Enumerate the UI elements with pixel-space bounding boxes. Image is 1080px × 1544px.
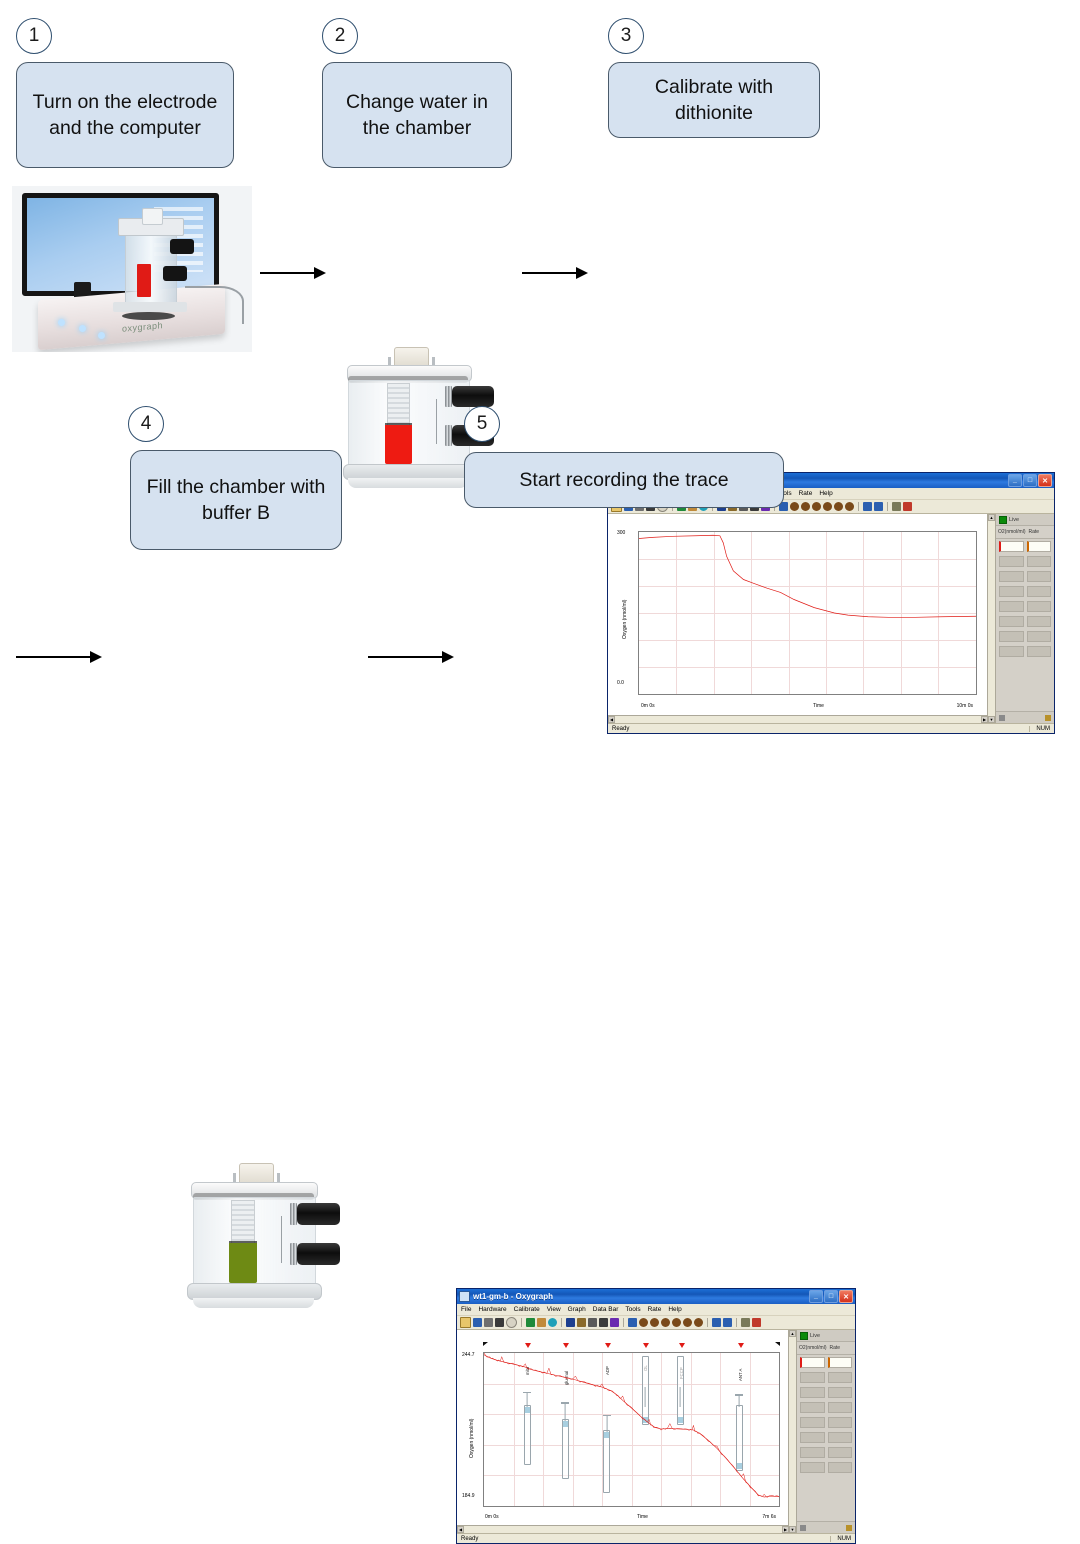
toolbar-separator-3 <box>623 1318 624 1327</box>
scroll-left-button[interactable]: ◀ <box>608 716 615 723</box>
chamber-red-liquid <box>137 264 151 297</box>
data-bar-columns: O2(nmol/ml) Rate <box>797 1342 855 1355</box>
live-indicator-icon <box>999 516 1007 524</box>
chamber-port-knob-upper <box>170 239 194 254</box>
data-bar-row[interactable] <box>797 1460 855 1475</box>
minimize-button[interactable]: _ <box>809 1290 823 1303</box>
o2-cell[interactable] <box>999 556 1024 567</box>
toolbar-separator-4 <box>707 1318 708 1327</box>
clock-icon[interactable] <box>506 1317 517 1328</box>
column-o2: O2(nmol/ml) <box>998 529 1026 535</box>
window-2-plot-area[interactable]: 244.7 184.9 Oxygen (nmol/ml) <box>457 1330 796 1533</box>
o2-cell[interactable] <box>999 631 1024 642</box>
step-4-number: 4 <box>128 406 164 442</box>
zoom-x-icon[interactable] <box>672 1318 681 1327</box>
chamber-liquid-green <box>229 1243 257 1283</box>
step-3-caption: Calibrate with dithionite <box>608 62 820 138</box>
pen-icon[interactable] <box>599 1318 608 1327</box>
menu-item-file[interactable]: File <box>461 1306 471 1313</box>
menu-item-help[interactable]: Help <box>668 1306 681 1313</box>
menu-item-help[interactable]: Help <box>819 490 832 497</box>
zoom-fit-icon[interactable] <box>661 1318 670 1327</box>
rate-cell[interactable] <box>828 1447 853 1458</box>
oxygraph-window-1[interactable]: Untitled - Oxygraph _ □ ✕ File Hardware … <box>607 472 1055 734</box>
rate-cell[interactable] <box>1027 601 1052 612</box>
info-icon[interactable] <box>752 1318 761 1327</box>
window-2-body: 244.7 184.9 Oxygen (nmol/ml) <box>457 1330 855 1533</box>
electrode-cable <box>185 286 245 325</box>
port-ring-lower <box>290 1243 297 1265</box>
window-1-controls[interactable]: _ □ ✕ <box>1008 474 1052 487</box>
chamber-port-knob-lower <box>297 1243 339 1265</box>
chamber-liquid-red <box>385 425 412 464</box>
x-tick-end: 7m 6s <box>762 1514 776 1520</box>
o2-cell[interactable] <box>800 1417 825 1428</box>
rate-cell[interactable] <box>1027 616 1052 627</box>
arrow-head <box>442 651 454 663</box>
menu-item-view[interactable]: View <box>547 1306 561 1313</box>
data-bar-header: Live <box>797 1330 855 1342</box>
data-bar-row[interactable] <box>996 629 1054 644</box>
settings-icon[interactable] <box>800 1525 806 1531</box>
o2-cell[interactable] <box>999 601 1024 612</box>
arrow-shaft <box>260 272 314 274</box>
live-indicator-icon <box>800 1332 808 1340</box>
chamber-plug <box>142 208 163 225</box>
chamber-base-plate-lower <box>348 478 468 488</box>
lock-icon[interactable] <box>1045 715 1051 721</box>
data-bar-row[interactable] <box>996 584 1054 599</box>
port-ring-upper <box>445 386 452 407</box>
menu-item-rate[interactable]: Rate <box>648 1306 662 1313</box>
rate-cell[interactable] <box>1027 556 1052 567</box>
app-icon <box>459 1291 470 1302</box>
save-icon[interactable] <box>473 1318 482 1327</box>
help-arrow-icon[interactable] <box>892 502 901 511</box>
column-o2: O2(nmol/ml) <box>799 1345 827 1351</box>
arrow-shaft <box>368 656 442 658</box>
step-1-photo-oxygraph-unit: oxygraph <box>12 186 252 352</box>
o2-cell[interactable] <box>800 1462 825 1473</box>
pointer-icon[interactable] <box>577 1318 586 1327</box>
marker-adp <box>605 1343 611 1348</box>
rate-cell[interactable] <box>828 1432 853 1443</box>
rate-value-cell[interactable] <box>828 1357 853 1368</box>
window-1-oxygen-trace <box>639 532 976 694</box>
x-axis-label: Time <box>813 703 824 709</box>
data-bar-row[interactable] <box>996 599 1054 614</box>
zoom-reset-icon[interactable] <box>694 1318 703 1327</box>
open-icon[interactable] <box>460 1317 471 1328</box>
data-bar-row-active[interactable] <box>996 539 1054 554</box>
droplet-icon[interactable] <box>537 1318 546 1327</box>
window-2-toolbar[interactable] <box>457 1316 855 1330</box>
o2-cell[interactable] <box>999 646 1024 657</box>
chamber-port-knob-lower <box>163 266 187 281</box>
chart-icon[interactable] <box>610 1318 619 1327</box>
step-2-caption: Change water in the chamber <box>322 62 512 168</box>
data-bar-header-label: Live <box>810 1333 820 1339</box>
y-tick-min: 0.0 <box>617 680 624 686</box>
arrow-shaft <box>522 272 576 274</box>
rate-cell[interactable] <box>828 1372 853 1383</box>
step-1-caption: Turn on the electrode and the computer <box>16 62 234 168</box>
y-axis-label: Oxygen (nmol/ml) <box>469 1419 475 1458</box>
print-icon[interactable] <box>484 1318 493 1327</box>
rate-cell[interactable] <box>828 1402 853 1413</box>
o2-cell[interactable] <box>999 586 1024 597</box>
o2-cell[interactable] <box>800 1372 825 1383</box>
scroll-right-button[interactable]: ▶ <box>782 1526 789 1533</box>
align-icon[interactable] <box>588 1318 597 1327</box>
menu-item-graph[interactable]: Graph <box>568 1306 586 1313</box>
data-bar-row[interactable] <box>996 644 1054 659</box>
plot-vertical-scrollbar[interactable]: ▲ ▼ <box>788 1330 796 1533</box>
toolbar-separator-4 <box>858 502 859 511</box>
thermometer-icon[interactable] <box>526 1318 535 1327</box>
window-2-oxygen-trace <box>484 1353 779 1506</box>
marker-ol <box>643 1343 649 1348</box>
minimize-button[interactable]: _ <box>1008 474 1022 487</box>
led-indicator-1 <box>58 319 65 326</box>
globe-icon[interactable] <box>548 1318 557 1327</box>
port-ring-lower <box>445 425 452 446</box>
o2-value-cell[interactable] <box>800 1357 825 1368</box>
step-3-number: 3 <box>608 18 644 54</box>
close-button[interactable]: ✕ <box>839 1290 853 1303</box>
y-axis-label: Oxygen (nmol/ml) <box>622 600 628 639</box>
arrow-to-step4 <box>16 652 102 662</box>
status-text: Ready <box>612 726 629 732</box>
step-5-caption: Start recording the trace <box>464 452 784 508</box>
info-icon[interactable] <box>903 502 912 511</box>
status-num-indicator: NUM <box>830 1536 851 1542</box>
maximize-button[interactable]: □ <box>1023 474 1037 487</box>
o2-cell[interactable] <box>999 616 1024 627</box>
grid-icon[interactable] <box>628 1318 637 1327</box>
scroll-down-button[interactable]: ▼ <box>789 1526 796 1533</box>
arrow-head <box>576 267 588 279</box>
toolbar-separator-5 <box>736 1318 737 1327</box>
zoom-x-icon[interactable] <box>823 502 832 511</box>
plot-vertical-scrollbar[interactable]: ▲ ▼ <box>987 514 995 723</box>
window-1-statusbar: Ready NUM <box>608 723 1054 734</box>
status-text: Ready <box>461 1536 478 1542</box>
data-bar-row[interactable] <box>797 1370 855 1385</box>
marker-glu-mal <box>563 1343 569 1348</box>
toolbar-separator-2 <box>561 1318 562 1327</box>
menu-item-tools[interactable]: Tools <box>625 1306 640 1313</box>
step-3-group: 3 <box>608 18 644 54</box>
toolbar-separator-1 <box>521 1318 522 1327</box>
step-5-group: 5 <box>464 406 500 442</box>
rate-value-cell[interactable] <box>1027 541 1052 552</box>
data-bar-row[interactable] <box>797 1385 855 1400</box>
status-num-indicator: NUM <box>1029 726 1050 732</box>
zoom-reset-icon[interactable] <box>845 502 854 511</box>
rate-cell[interactable] <box>828 1417 853 1428</box>
x-axis-label: Time <box>637 1514 648 1520</box>
x-tick-end: 10m 0s <box>957 703 973 709</box>
arrow-shaft <box>16 656 90 658</box>
scroll-up-button[interactable]: ▲ <box>789 1330 796 1337</box>
zoom-in-icon[interactable] <box>639 1318 648 1327</box>
menu-item-rate[interactable]: Rate <box>799 490 813 497</box>
port-ring-upper <box>290 1203 297 1225</box>
plot-horizontal-scrollbar[interactable]: ◀ ▶ <box>608 715 988 723</box>
window-2-title: wt1-gm-b - Oxygraph <box>473 1292 809 1301</box>
window-2-statusbar: Ready NUM <box>457 1533 855 1544</box>
table-icon[interactable] <box>723 1318 732 1327</box>
window-1-plot-area[interactable]: 300 0.0 Oxygen (nmol/ml) <box>608 514 995 723</box>
step-1-number: 1 <box>16 18 52 54</box>
chamber-port-knob-upper <box>297 1203 339 1225</box>
rate-cell[interactable] <box>1027 586 1052 597</box>
window-2-titlebar[interactable]: wt1-gm-b - Oxygraph _ □ ✕ <box>457 1289 855 1304</box>
y-tick-max: 300 <box>617 530 625 536</box>
menu-item-hardware[interactable]: Hardware <box>478 1306 506 1313</box>
y-tick-max: 244.7 <box>462 1352 475 1358</box>
window-1-data-bar[interactable]: Live O2(nmol/ml) Rate <box>995 514 1054 723</box>
maximize-button[interactable]: □ <box>824 1290 838 1303</box>
scroll-down-button[interactable]: ▼ <box>988 716 995 723</box>
o2-cell[interactable] <box>800 1402 825 1413</box>
step-4-photo-chamber-buffer <box>176 1160 360 1326</box>
window-icon[interactable] <box>712 1318 721 1327</box>
step-2-group: 2 <box>322 18 358 54</box>
window-2-data-bar[interactable]: Live O2(nmol/ml) Rate <box>796 1330 855 1533</box>
data-bar-header: Live <box>996 514 1054 526</box>
rate-cell[interactable] <box>1027 646 1052 657</box>
window-1-plot-frame <box>638 531 977 695</box>
step-1-group: 1 <box>16 18 52 54</box>
chamber-base-plate-lower <box>193 1298 314 1308</box>
link-icon[interactable] <box>495 1318 504 1327</box>
step-2-number: 2 <box>322 18 358 54</box>
chamber-base <box>113 302 187 312</box>
x-tick-start: 0m 0s <box>641 703 655 709</box>
rate-cell[interactable] <box>1027 571 1052 582</box>
arrow-head <box>314 267 326 279</box>
data-bar-row[interactable] <box>797 1415 855 1430</box>
o2-value-cell[interactable] <box>999 541 1024 552</box>
arrow-step1-to-step2 <box>260 268 326 278</box>
data-bar-header-label: Live <box>1009 517 1019 523</box>
zoom-in-icon[interactable] <box>790 502 799 511</box>
window-2-controls[interactable]: _ □ ✕ <box>809 1290 853 1303</box>
data-bar-row[interactable] <box>996 614 1054 629</box>
menu-item-calibrate[interactable]: Calibrate <box>514 1306 540 1313</box>
settings-icon[interactable] <box>999 715 1005 721</box>
scroll-up-button[interactable]: ▲ <box>988 514 995 521</box>
data-bar-row[interactable] <box>996 569 1054 584</box>
o2-cell[interactable] <box>800 1387 825 1398</box>
zoom-fit-icon[interactable] <box>812 502 821 511</box>
y-tick-min: 184.9 <box>462 1493 475 1499</box>
data-bar-row[interactable] <box>797 1445 855 1460</box>
rate-cell[interactable] <box>1027 631 1052 642</box>
o2-cell[interactable] <box>999 571 1024 582</box>
column-rate: Rate <box>1029 529 1040 535</box>
arrow-step4-to-step5 <box>368 652 454 662</box>
window-2-marker-row <box>483 1340 780 1352</box>
marker-mito <box>525 1343 531 1348</box>
playhead-end-icon <box>775 1342 780 1350</box>
data-bar-row-active[interactable] <box>797 1355 855 1370</box>
step-4-caption: Fill the chamber with buffer B <box>130 450 342 550</box>
cursor-icon[interactable] <box>566 1318 575 1327</box>
toolbar-separator-5 <box>887 502 888 511</box>
help-arrow-icon[interactable] <box>741 1318 750 1327</box>
data-bar-row[interactable] <box>797 1400 855 1415</box>
close-button[interactable]: ✕ <box>1038 474 1052 487</box>
rate-cell[interactable] <box>828 1387 853 1398</box>
data-bar-row[interactable] <box>996 554 1054 569</box>
marker-fccp <box>679 1343 685 1348</box>
playhead-start-icon <box>483 1342 488 1350</box>
menu-item-data-bar[interactable]: Data Bar <box>593 1306 619 1313</box>
window-2-menubar[interactable]: File Hardware Calibrate View Graph Data … <box>457 1304 855 1316</box>
x-tick-start: 0m 0s <box>485 1514 499 1520</box>
data-bar-columns: O2(nmol/ml) Rate <box>996 526 1054 539</box>
window-2-plot-frame: mito glu-mal ADP OL FCCP ANT A <box>483 1352 780 1507</box>
column-rate: Rate <box>830 1345 841 1351</box>
marker-ant-a <box>738 1343 744 1348</box>
connector-rod <box>281 1216 283 1262</box>
data-bar-row[interactable] <box>797 1430 855 1445</box>
zoom-out-icon[interactable] <box>801 502 810 511</box>
zoom-y-icon[interactable] <box>834 502 843 511</box>
arrow-step2-to-step3 <box>522 268 588 278</box>
step-5-number: 5 <box>464 406 500 442</box>
step-4-group: 4 <box>128 406 164 442</box>
data-bar-footer <box>797 1521 855 1533</box>
o2-cell[interactable] <box>800 1432 825 1443</box>
scroll-left-button[interactable]: ◀ <box>457 1526 464 1533</box>
lock-icon[interactable] <box>846 1525 852 1531</box>
zoom-out-icon[interactable] <box>650 1318 659 1327</box>
data-bar-footer <box>996 711 1054 723</box>
table-icon[interactable] <box>874 502 883 511</box>
plot-horizontal-scrollbar[interactable]: ◀ ▶ <box>457 1525 789 1533</box>
o2-cell[interactable] <box>800 1447 825 1458</box>
rate-cell[interactable] <box>828 1462 853 1473</box>
zoom-y-icon[interactable] <box>683 1318 692 1327</box>
chamber-port-knob-upper <box>452 386 494 407</box>
window-icon[interactable] <box>863 502 872 511</box>
oxygraph-window-2[interactable]: wt1-gm-b - Oxygraph _ □ ✕ File Hardware … <box>456 1288 856 1544</box>
scroll-right-button[interactable]: ▶ <box>981 716 988 723</box>
connector-rod <box>436 399 438 444</box>
arrow-head <box>90 651 102 663</box>
window-1-body: 300 0.0 Oxygen (nmol/ml) <box>608 514 1054 723</box>
